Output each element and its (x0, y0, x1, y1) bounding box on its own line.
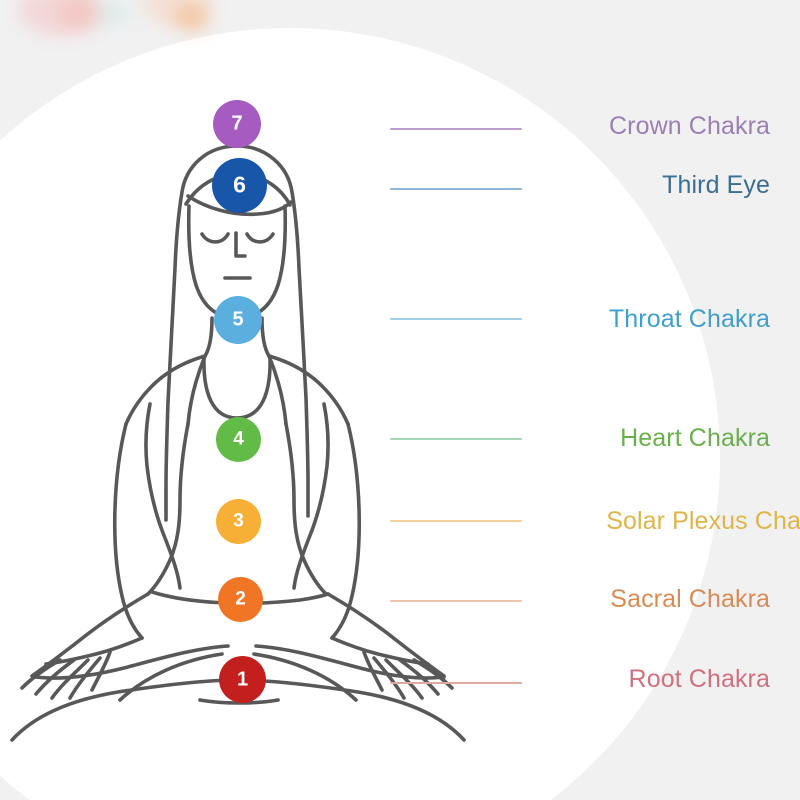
chakra-node-4[interactable]: 4 (216, 417, 261, 462)
chakra-node-number: 6 (233, 174, 246, 197)
chakra-label-4[interactable]: Heart Chakra (620, 424, 770, 453)
background-circle (0, 28, 720, 800)
background-smudge-icon (58, 0, 102, 30)
chakra-node-number: 7 (231, 114, 242, 134)
leader-line-1 (390, 682, 522, 684)
chakra-node-5[interactable]: 5 (214, 296, 262, 344)
chakra-node-7[interactable]: 7 (213, 100, 261, 148)
chakra-label-3[interactable]: Solar Plexus Chakra (606, 507, 800, 536)
chakra-label-2[interactable]: Sacral Chakra (610, 585, 770, 614)
leader-line-3 (390, 520, 522, 522)
background-smudge-icon (98, 2, 128, 24)
chakra-label-5[interactable]: Throat Chakra (609, 305, 770, 334)
leader-line-6 (390, 188, 522, 190)
leader-line-7 (390, 128, 522, 130)
chakra-node-3[interactable]: 3 (216, 499, 261, 544)
chakra-node-number: 4 (233, 430, 244, 449)
background-smudge-icon (18, 0, 98, 36)
background-smudge-icon (142, 0, 212, 26)
chakra-label-7[interactable]: Crown Chakra (609, 112, 770, 141)
chakra-node-number: 5 (232, 310, 243, 330)
chakra-node-6[interactable]: 6 (212, 158, 267, 213)
leader-line-4 (390, 438, 522, 440)
chakra-node-number: 1 (237, 669, 248, 689)
chakra-node-number: 3 (233, 512, 244, 531)
leader-line-2 (390, 600, 522, 602)
chakra-node-number: 2 (235, 590, 246, 609)
chakra-node-2[interactable]: 2 (218, 577, 263, 622)
leader-line-5 (390, 318, 522, 320)
chakra-label-6[interactable]: Third Eye (662, 171, 770, 200)
chakra-diagram: 7654321 Crown ChakraThird EyeThroat Chak… (0, 0, 800, 800)
chakra-label-1[interactable]: Root Chakra (629, 665, 770, 694)
background-smudge-icon (175, 6, 209, 30)
chakra-node-1[interactable]: 1 (219, 656, 266, 703)
